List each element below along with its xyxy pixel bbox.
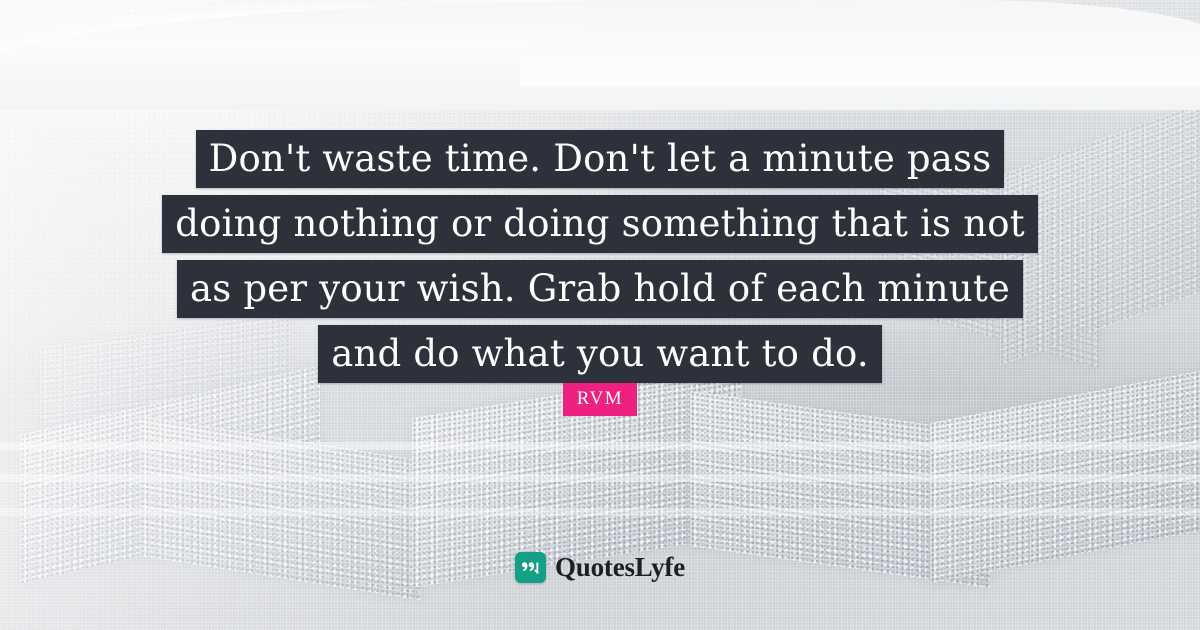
quote-line-text: doing nothing or doing something that is… (162, 195, 1038, 253)
brand-footer[interactable]: QuotesLyfe (0, 552, 1200, 583)
quote-line-text: as per your wish. Grab hold of each minu… (177, 260, 1023, 318)
quote-line-text: and do what you want to do. (318, 325, 882, 383)
brand-name: QuotesLyfe (555, 552, 685, 583)
author-name-badge: RVM (563, 383, 638, 416)
quote-text: Don't waste time. Don't let a minute pas… (0, 132, 1200, 392)
quote-line-text: Don't waste time. Don't let a minute pas… (196, 130, 1005, 188)
quote-line: doing nothing or doing something that is… (0, 197, 1200, 258)
quote-line: as per your wish. Grab hold of each minu… (0, 262, 1200, 323)
quote-line: and do what you want to do. (0, 327, 1200, 388)
author-attribution: RVM (0, 383, 1200, 416)
background-snowbank (0, 0, 1200, 110)
quote-line: Don't waste time. Don't let a minute pas… (0, 132, 1200, 193)
background-snowbank-right (520, 0, 1200, 86)
quote-marks-icon (515, 552, 546, 583)
quote-card: Don't waste time. Don't let a minute pas… (0, 0, 1200, 630)
